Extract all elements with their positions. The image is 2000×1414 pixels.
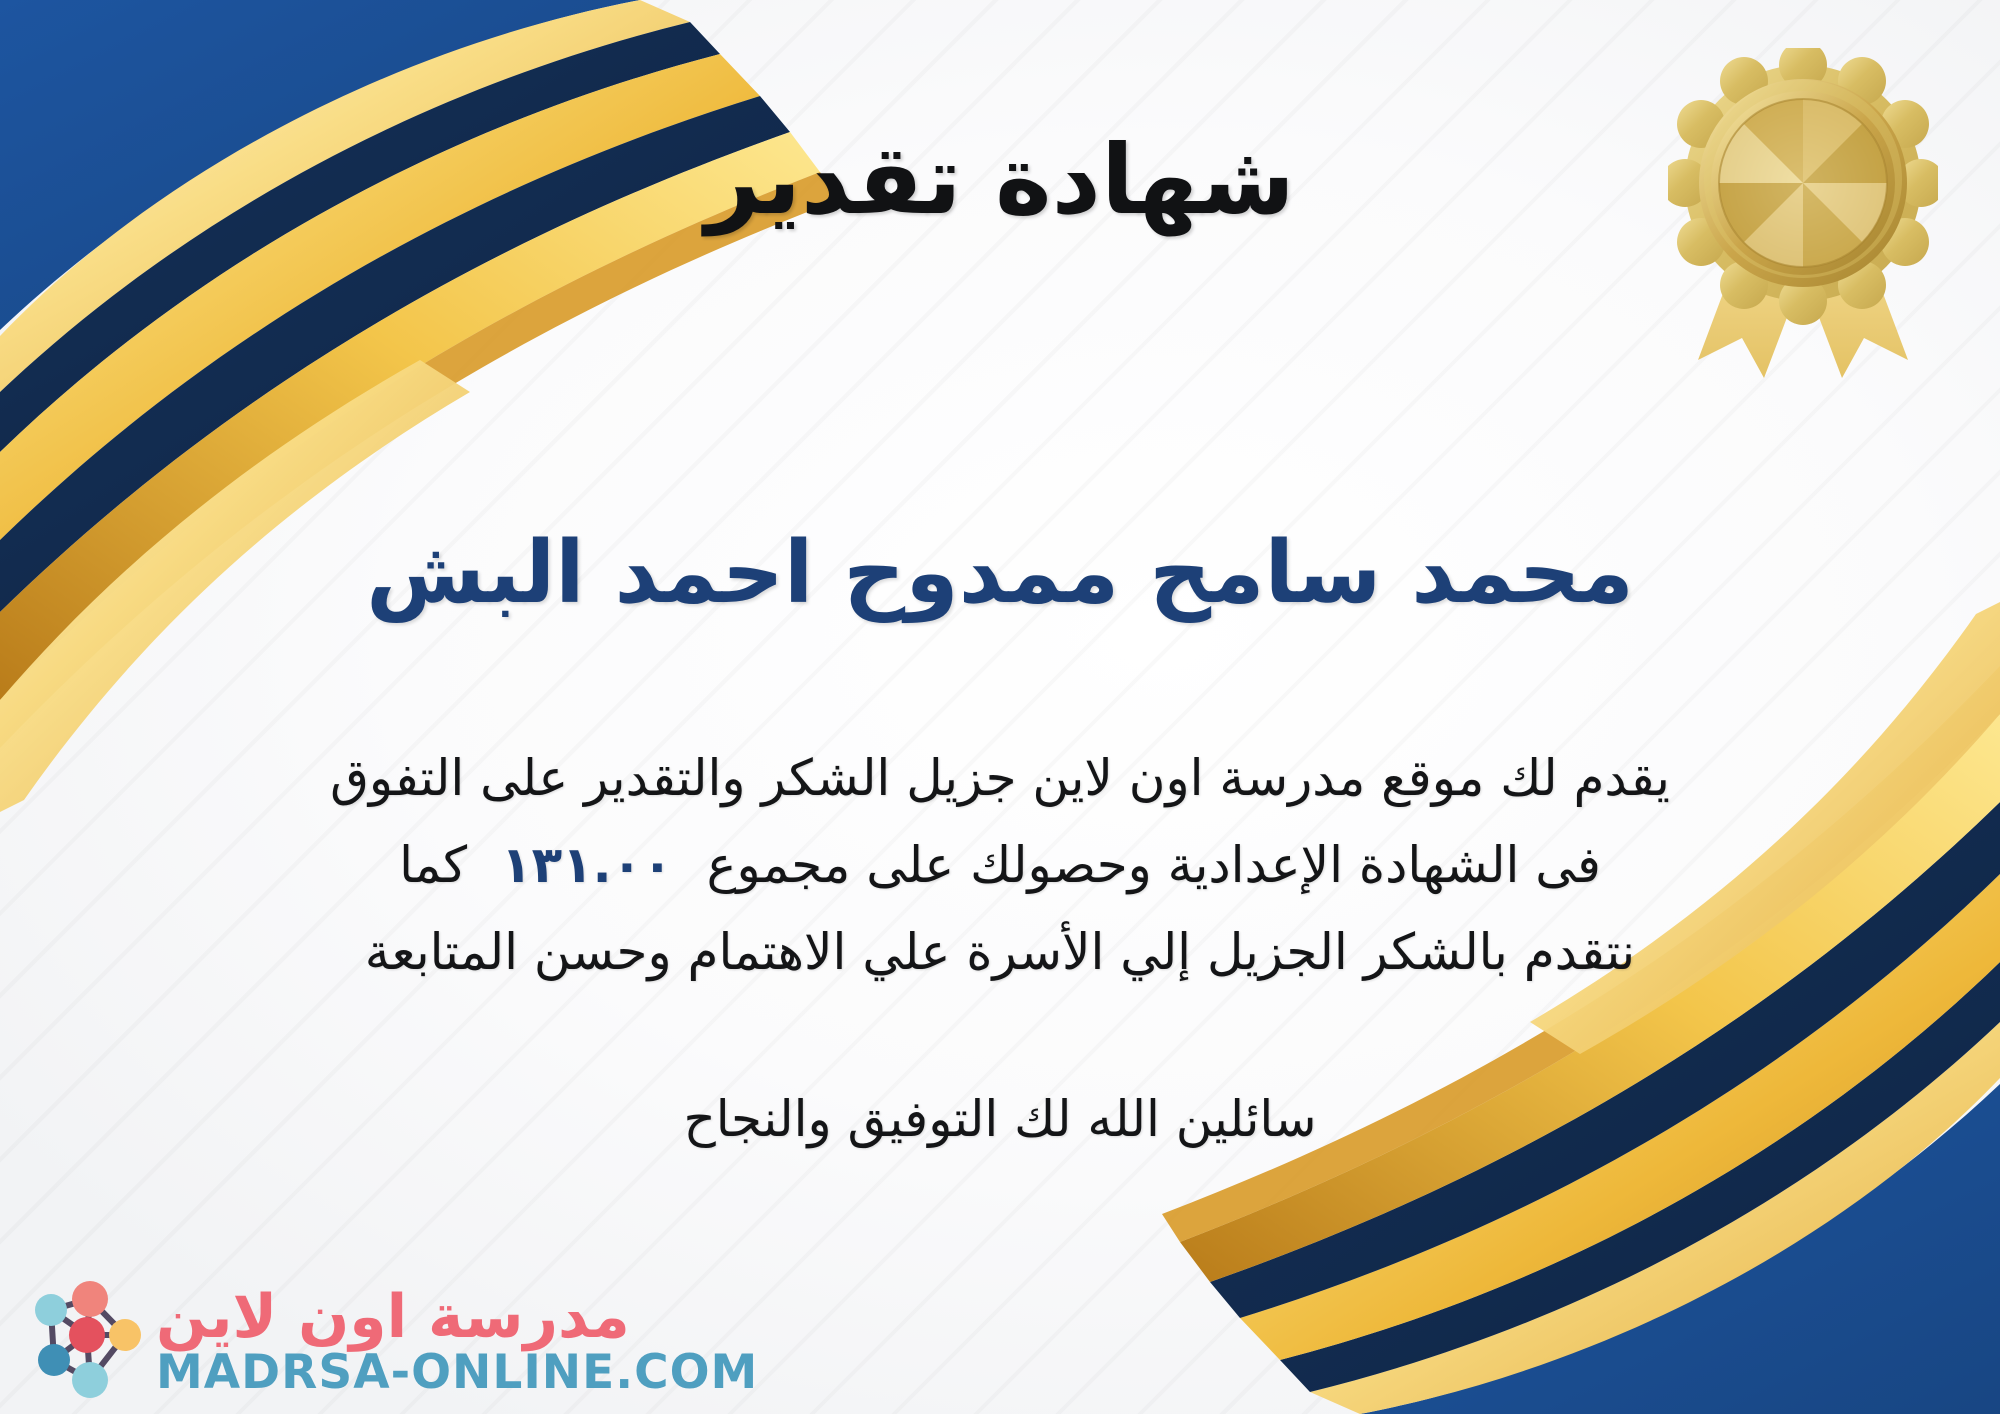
body-line-2-suffix: كما xyxy=(399,836,467,894)
body-line-1: يقدم لك موقع مدرسة اون لاين جزيل الشكر و… xyxy=(60,735,1940,822)
network-nodes-icon xyxy=(24,1280,150,1402)
body-line-2-prefix: فى الشهادة الإعدادية وحصولك على مجموع xyxy=(707,836,1601,894)
certificate-canvas: شهادة تقدير محمد سامح ممدوح احمد البش يق… xyxy=(0,0,2000,1414)
closing-wish: سائلين الله لك التوفيق والنجاح xyxy=(0,1090,2000,1148)
logo-arabic-name: مدرسة اون لاين xyxy=(156,1287,630,1347)
logo-website-url: MADRSA-ONLINE.COM xyxy=(156,1349,758,1396)
total-score-value: ١٣١.٠٠ xyxy=(467,822,707,909)
certificate-content: شهادة تقدير محمد سامح ممدوح احمد البش يق… xyxy=(0,0,2000,1414)
recipient-name: محمد سامح ممدوح احمد البش xyxy=(0,520,2000,628)
body-line-3: نتقدم بالشكر الجزيل إلي الأسرة علي الاهت… xyxy=(60,909,1940,996)
page-title: شهادة تقدير xyxy=(0,128,2000,234)
brand-logo[interactable]: مدرسة اون لاين MADRSA-ONLINE.COM xyxy=(24,1280,758,1402)
body-line-2: فى الشهادة الإعدادية وحصولك على مجموع١٣١… xyxy=(60,822,1940,909)
logo-text-block: مدرسة اون لاين MADRSA-ONLINE.COM xyxy=(156,1287,758,1396)
certificate-body: يقدم لك موقع مدرسة اون لاين جزيل الشكر و… xyxy=(60,735,1940,996)
